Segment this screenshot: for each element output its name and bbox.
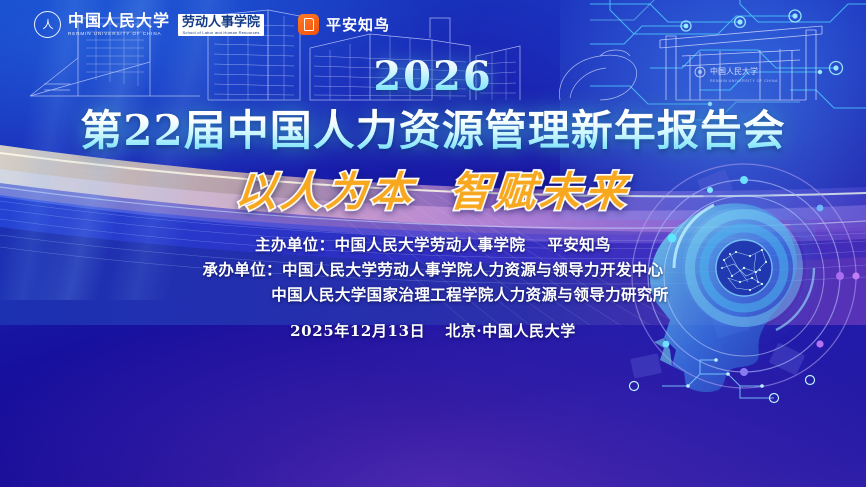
university-seal-icon: 人 (34, 11, 61, 38)
coorganizer-value-1: 中国人民大学劳动人事学院人力资源与领导力开发中心 (282, 260, 664, 279)
school-name-en: School of Labor and Human Resources (183, 31, 260, 35)
host-label: 主办单位： (255, 235, 335, 254)
event-dateline: 2025年12月13日北京·中国人民大学 (0, 320, 866, 341)
logo-bar: 人 中国人民大学 RENMIN UNIVERSITY OF CHINA 劳动人事… (34, 11, 390, 38)
partner-app-icon (298, 14, 319, 35)
event-location: 北京·中国人民大学 (445, 322, 576, 340)
university-seal-glyph: 人 (43, 19, 53, 30)
coorganizer-label: 承办单位： (202, 260, 282, 279)
slogan-right: 智赋未来 (448, 168, 632, 216)
host-value-1: 中国人民大学劳动人事学院 (335, 235, 526, 254)
coorganizer-line-2: 中国人民大学国家治理工程学院人力资源与领导力研究所 (0, 282, 866, 307)
slogan-left: 以人为本 (234, 168, 418, 216)
university-name-en: RENMIN UNIVERSITY OF CHINA (68, 32, 170, 37)
organizers-block: 主办单位：中国人民大学劳动人事学院平安知鸟 承办单位：中国人民大学劳动人事学院人… (0, 232, 866, 307)
university-logo: 人 中国人民大学 RENMIN UNIVERSITY OF CHINA (34, 11, 170, 38)
host-value-2: 平安知鸟 (547, 235, 611, 254)
university-logo-text: 中国人民大学 RENMIN UNIVERSITY OF CHINA (68, 13, 170, 37)
event-date: 2025年12月13日 (290, 322, 425, 340)
partner-logo: 平安知鸟 (298, 14, 390, 35)
event-slogan: 以人为本智赋未来 (0, 158, 866, 218)
coorganizer-value-2: 中国人民大学国家治理工程学院人力资源与领导力研究所 (271, 285, 669, 304)
coorganizer-line-1: 承办单位：中国人民大学劳动人事学院人力资源与领导力开发中心 (0, 257, 866, 282)
school-name-cn: 劳动人事学院 (182, 16, 260, 29)
conference-poster: 中国人民大学 RENMIN UNIVERSITY OF CHINA (0, 0, 866, 487)
school-logo: 劳动人事学院 School of Labor and Human Resourc… (178, 14, 264, 36)
event-year: 2026 (0, 53, 866, 100)
university-name-cn: 中国人民大学 (68, 13, 170, 29)
partner-name-cn: 平安知鸟 (326, 14, 390, 35)
host-line: 主办单位：中国人民大学劳动人事学院平安知鸟 (0, 232, 866, 257)
page-title: 第22届中国人力资源管理新年报告会 (0, 97, 866, 158)
